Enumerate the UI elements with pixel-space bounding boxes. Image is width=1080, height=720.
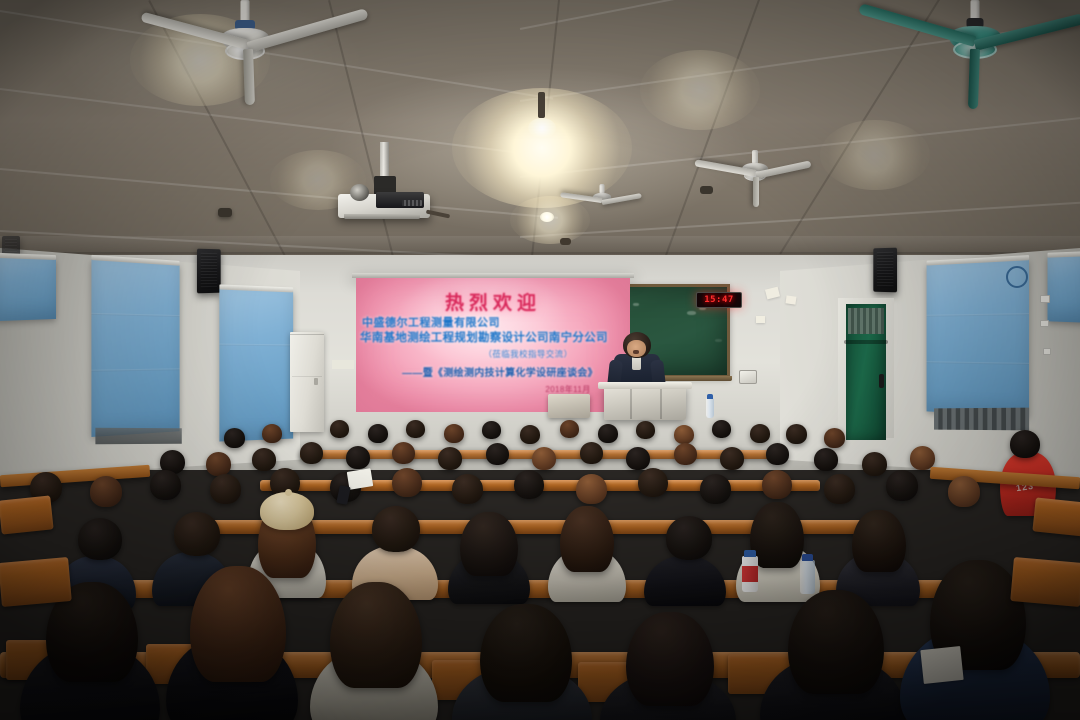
window-blind-right-2[interactable] xyxy=(1048,255,1080,322)
handout-paper[interactable] xyxy=(920,646,963,684)
mobile-phone[interactable] xyxy=(336,485,351,505)
ceiling-lamp-core xyxy=(540,212,554,222)
presenter-face xyxy=(627,340,646,357)
door-window xyxy=(848,308,884,334)
bottle-cap xyxy=(707,394,713,399)
fan-blade xyxy=(694,159,756,177)
ceiling-lamp-core xyxy=(528,118,556,138)
ceiling-fan-mid-right xyxy=(700,150,810,196)
water-bottle xyxy=(800,560,815,594)
attendee-hair xyxy=(626,612,714,706)
slide-line-3: （莅临我校指导交流） xyxy=(356,348,630,360)
attendee-shoulders xyxy=(644,556,726,606)
wall-speaker-right xyxy=(873,248,897,293)
wall-control-box[interactable] xyxy=(739,370,757,384)
wall-speaker-left xyxy=(197,249,221,294)
door-crossbar xyxy=(844,340,888,344)
attendee-hair xyxy=(852,510,906,572)
attendee-head xyxy=(1010,430,1040,458)
attendee-hair xyxy=(480,604,572,702)
wall-poster-small xyxy=(332,360,354,369)
wall-notice xyxy=(785,295,796,304)
slide-line-4: ——暨《测绘测内技计算化学设研座谈会》 xyxy=(356,364,630,379)
fan-blade xyxy=(858,3,976,47)
slide-line-2: 华南基地测绘工程规划勘察设计公司南宁分公司 xyxy=(356,329,630,345)
ceiling-fan-teal-right xyxy=(880,0,1070,72)
wall-outlet[interactable] xyxy=(1043,348,1051,355)
lamp-stem xyxy=(538,92,545,118)
projection-screen: 热烈欢迎 中盛德尔工程测量有限公司 华南基地测绘工程规划勘察设计公司南宁分公司 … xyxy=(356,278,630,412)
window-blind-left-2[interactable] xyxy=(91,259,179,437)
wall-outlet[interactable] xyxy=(1040,320,1049,327)
wall-outlet[interactable] xyxy=(1040,295,1050,303)
window-frame-left xyxy=(95,428,181,445)
fan-blade xyxy=(246,8,368,53)
projector-lens xyxy=(350,184,369,201)
door-handle[interactable] xyxy=(879,374,884,388)
cable-coil xyxy=(1006,266,1028,288)
aisle-seat xyxy=(1010,557,1080,607)
attendee-hair xyxy=(190,566,286,682)
ceiling-fan-white-left xyxy=(160,0,330,70)
fan-blade xyxy=(243,49,255,105)
water-bottle xyxy=(706,398,714,418)
ceiling-projector-assembly xyxy=(332,142,452,228)
attendee-hair xyxy=(460,512,518,576)
window-frame-right xyxy=(934,408,1029,431)
aisle-seat xyxy=(0,495,54,534)
lectern-top xyxy=(598,382,692,389)
wall-notice xyxy=(756,316,765,323)
bottle-cap xyxy=(744,550,756,557)
attendee-head xyxy=(666,516,712,560)
attendee-head xyxy=(372,506,420,552)
led-sign-text: 15:47 xyxy=(704,295,734,305)
ceiling-lamp xyxy=(820,120,930,190)
ceiling xyxy=(0,0,1080,268)
beret-hat[interactable] xyxy=(260,492,314,530)
attendee-head xyxy=(174,512,220,556)
window-blind-left-3[interactable] xyxy=(219,288,293,441)
slide-line-1: 中盛德尔工程测量有限公司 xyxy=(356,314,630,330)
bottle-cap xyxy=(802,554,813,561)
attendee-head xyxy=(78,518,122,560)
white-cabinet xyxy=(290,332,324,432)
attendee-hair xyxy=(560,506,614,572)
bottle-label xyxy=(742,566,758,582)
attendee-hair xyxy=(330,582,422,688)
ceiling-spot xyxy=(218,208,232,217)
handout-paper[interactable] xyxy=(347,468,374,490)
window-blind-left-1[interactable] xyxy=(0,257,56,321)
attendee-hair xyxy=(750,502,804,568)
ceiling-lamp xyxy=(640,50,760,130)
lectern xyxy=(604,386,686,420)
fan-blade xyxy=(968,49,980,109)
fan-blade xyxy=(755,160,811,178)
aisle-seat xyxy=(1032,497,1080,536)
ceiling-spot xyxy=(560,238,571,245)
ceiling-fan-far xyxy=(560,184,644,218)
led-clock-sign: 15:47 xyxy=(696,292,742,308)
lecture-hall-photo: 15:47 热烈欢迎 中盛德尔工程测量有限公司 华南基地测绘工程规划勘察设计公司… xyxy=(0,0,1080,720)
attendee-hair xyxy=(788,590,884,694)
aisle-seat xyxy=(0,557,72,607)
side-table xyxy=(548,394,590,418)
fan-blade xyxy=(753,177,759,207)
slide-headline: 热烈欢迎 xyxy=(356,288,630,315)
